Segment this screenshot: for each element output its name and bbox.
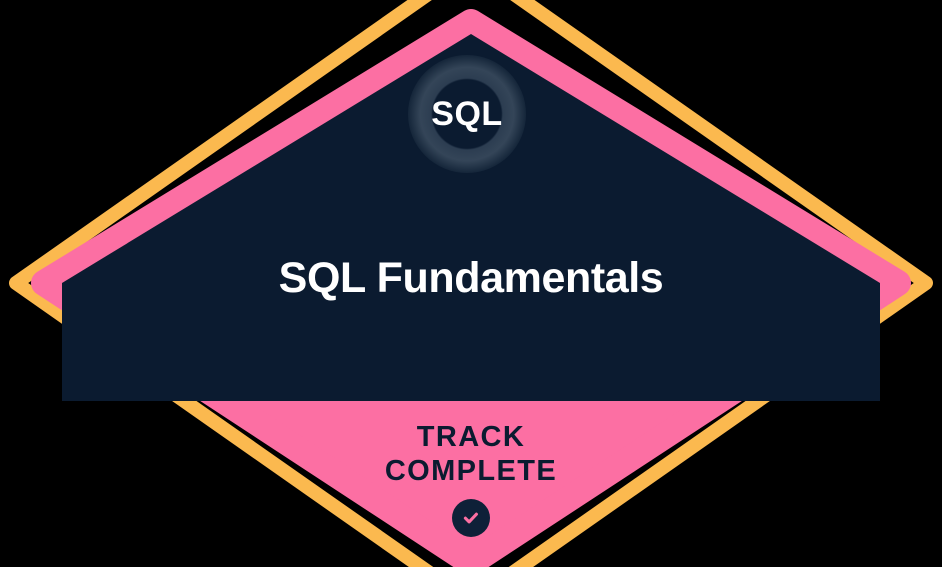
check-circle-icon: [452, 499, 490, 537]
sql-chip-icon: SQL: [408, 55, 526, 173]
status-line-complete: COMPLETE: [0, 454, 942, 488]
track-title: SQL Fundamentals: [0, 255, 942, 302]
status-line-track: TRACK: [0, 420, 942, 454]
completion-banner: TRACK COMPLETE: [0, 420, 942, 537]
check-mark-icon: [460, 507, 482, 529]
sql-chip-label: SQL: [431, 97, 502, 131]
track-badge[interactable]: SQL SQL Fundamentals TRACK COMPLETE: [0, 0, 942, 567]
